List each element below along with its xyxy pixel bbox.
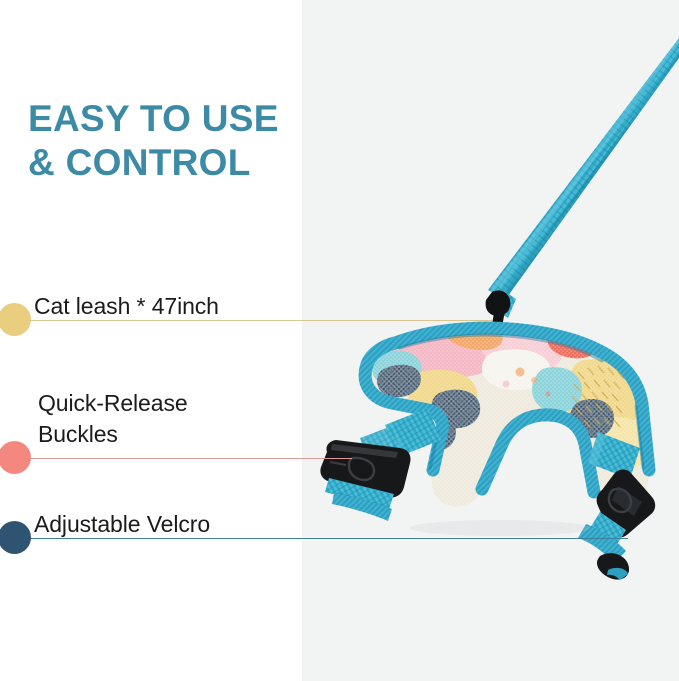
background-panel-right (302, 0, 679, 681)
page-title-line-1: EASY TO USE (28, 97, 308, 141)
page-title-line-2: & CONTROL (28, 141, 308, 185)
infographic-canvas: EASY TO USE & CONTROL Cat leash * 47inch… (0, 0, 679, 681)
callout-label-adjustable-velcro: Adjustable Velcro (34, 509, 210, 540)
callout-leader-line-quick-release-buckles (14, 458, 352, 459)
callout-label-quick-release-buckles-line-2: Buckles (38, 419, 118, 450)
callout-label-quick-release-buckles-line-1: Quick-Release (38, 388, 188, 419)
callout-label-cat-leash: Cat leash * 47inch (34, 291, 219, 322)
page-title: EASY TO USE & CONTROL (28, 97, 308, 185)
